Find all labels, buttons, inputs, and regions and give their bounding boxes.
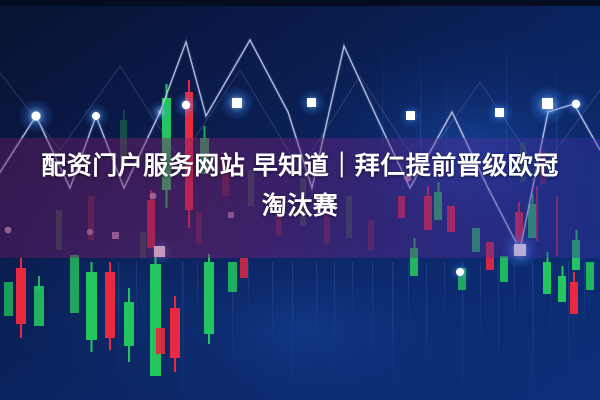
banner-title: 配资门户服务网站 早知道｜拜仁提前晋级欧冠淘汰赛 (30, 146, 570, 226)
stock-chart-banner: 配资门户服务网站 早知道｜拜仁提前晋级欧冠淘汰赛 (0, 0, 600, 400)
title-container: 配资门户服务网站 早知道｜拜仁提前晋级欧冠淘汰赛 (0, 146, 600, 226)
